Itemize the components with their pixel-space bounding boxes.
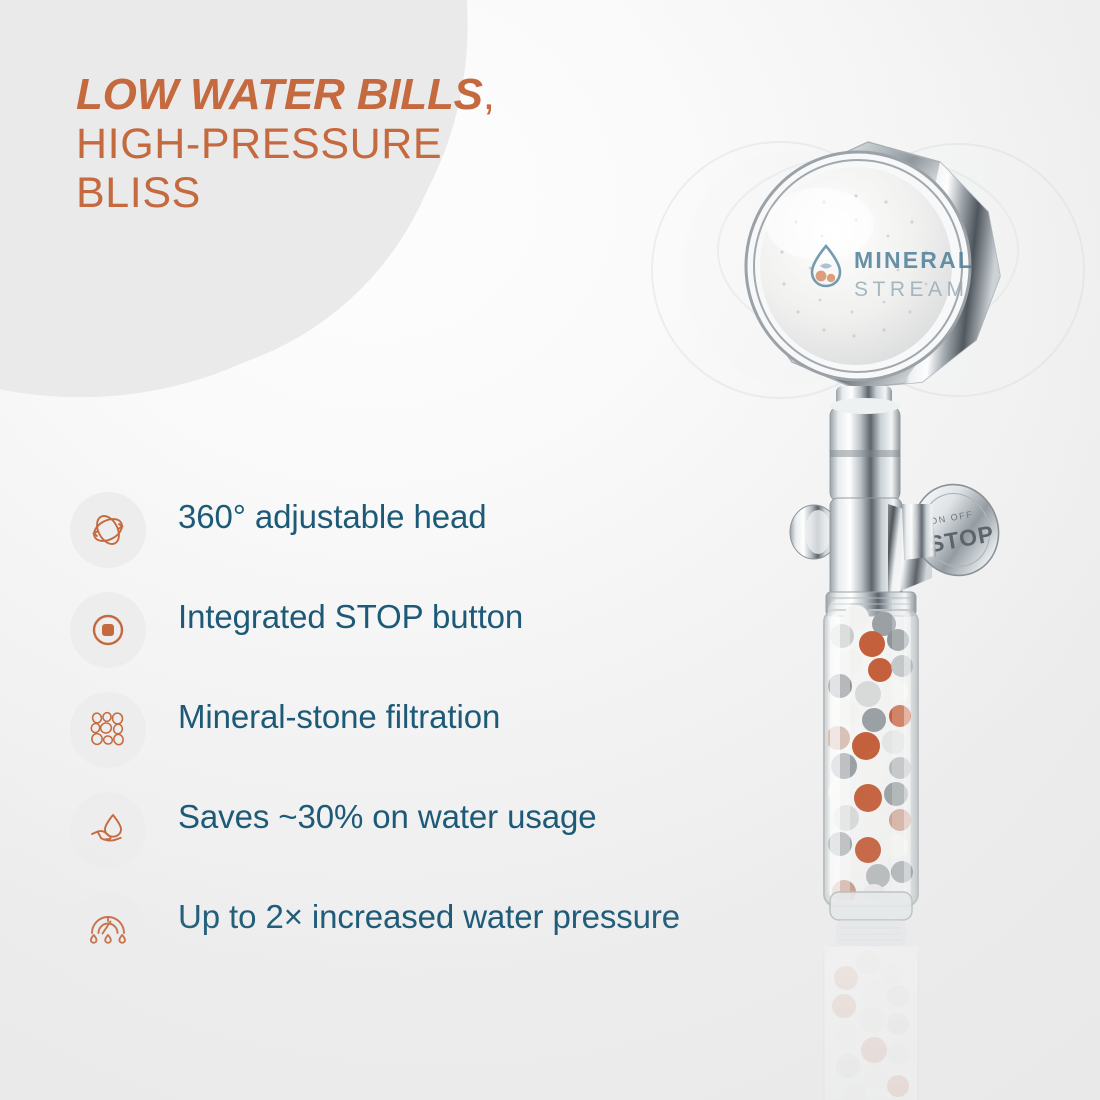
feature-icon-badge: [70, 892, 146, 968]
headline-line-1-text: LOW WATER BILLS: [76, 70, 483, 119]
swivel-neck: [830, 386, 900, 502]
feature-icon-badge: [70, 792, 146, 868]
feature-list: 360° adjustable head Integrated STOP but…: [70, 490, 720, 990]
feature-item: Up to 2× increased water pressure: [70, 890, 720, 976]
mineral-filter-chamber: [824, 600, 918, 920]
brand-line-2: STREAM: [854, 278, 969, 301]
feature-item: 360° adjustable head: [70, 490, 720, 576]
headline: LOW WATER BILLS, HIGH-PRESSURE BLISS: [76, 70, 596, 218]
headline-line-2: HIGH-PRESSURE: [76, 120, 596, 169]
product-reflection: [824, 920, 918, 1100]
feature-label: Saves ~30% on water usage: [178, 798, 597, 837]
feature-icon-badge: [70, 492, 146, 568]
feature-item: Saves ~30% on water usage: [70, 790, 720, 876]
product-infographic-poster: MINERAL STREAM: [0, 0, 1100, 1100]
pressure-gauge-icon: [85, 907, 131, 953]
feature-item: Integrated STOP button: [70, 590, 720, 676]
headline-line-1: LOW WATER BILLS,: [76, 70, 596, 120]
rotate-360-icon: [86, 508, 130, 552]
hand-water-drop-icon: [85, 807, 131, 853]
feature-icon-badge: [70, 692, 146, 768]
feature-item: Mineral-stone filtration: [70, 690, 720, 776]
feature-icon-badge: [70, 592, 146, 668]
feature-label: Mineral-stone filtration: [178, 698, 500, 737]
brand-line-1: MINERAL: [854, 247, 974, 273]
mineral-stones-icon: [86, 708, 130, 752]
feature-label: Up to 2× increased water pressure: [178, 898, 680, 937]
feature-label: 360° adjustable head: [178, 498, 486, 537]
feature-label: Integrated STOP button: [178, 598, 523, 637]
headline-line-3: BLISS: [76, 169, 596, 218]
stop-button-icon: [86, 608, 130, 652]
headline-line-1-comma: ,: [483, 70, 495, 119]
